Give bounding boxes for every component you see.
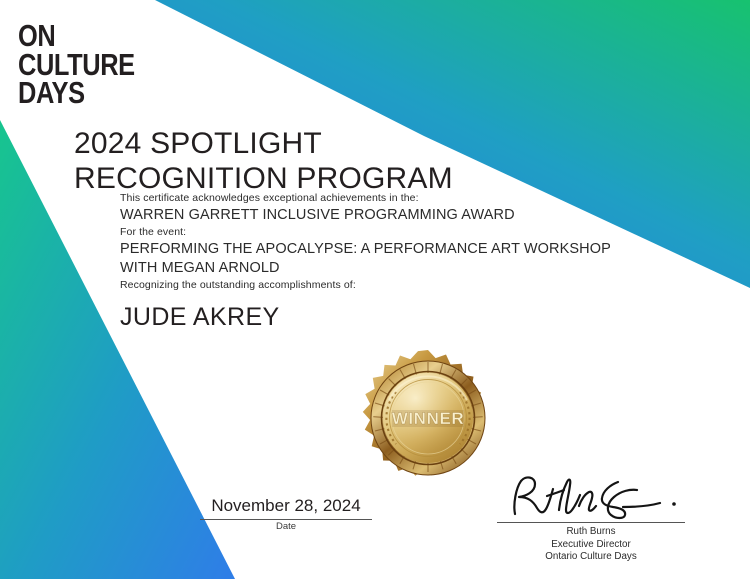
page-title: 2024 SPOTLIGHT RECOGNITION PROGRAM [74, 126, 453, 197]
handwritten-signature-icon [497, 470, 685, 522]
on-culture-days-logo: ON CULTURE DAYS [18, 22, 135, 108]
event-name-line-2: WITH MEGAN ARNOLD [120, 259, 611, 278]
award-name: WARREN GARRETT INCLUSIVE PROGRAMMING AWA… [120, 206, 611, 225]
date-value: November 28, 2024 [200, 496, 372, 516]
certificate-canvas: ON CULTURE DAYS 2024 SPOTLIGHT RECOGNITI… [0, 0, 750, 579]
signature-rule [497, 522, 685, 523]
winner-seal: WINNER WINNER [358, 348, 498, 488]
signature-mark [497, 470, 685, 522]
event-label: For the event: [120, 225, 611, 240]
signer-organization: Ontario Culture Days [497, 551, 685, 564]
signature-block: Ruth Burns Executive Director Ontario Cu… [497, 470, 685, 564]
recipient-name: JUDE AKREY [120, 303, 280, 332]
date-caption: Date [200, 521, 372, 532]
title-line-1: 2024 SPOTLIGHT [74, 126, 453, 161]
date-rule [200, 519, 372, 520]
intro-text: This certificate acknowledges exceptiona… [120, 191, 611, 206]
svg-text:WINNER: WINNER [392, 409, 465, 428]
date-block: November 28, 2024 Date [200, 496, 372, 532]
signer-name: Ruth Burns [497, 526, 685, 539]
logo-line-3: DAYS [18, 79, 135, 108]
signature-caption: Ruth Burns Executive Director Ontario Cu… [497, 526, 685, 564]
signer-title: Executive Director [497, 539, 685, 552]
certificate-body: This certificate acknowledges exceptiona… [120, 191, 611, 293]
recognizing-text: Recognizing the outstanding accomplishme… [120, 278, 611, 293]
event-name-line-1: PERFORMING THE APOCALYPSE: A PERFORMANCE… [120, 240, 611, 259]
